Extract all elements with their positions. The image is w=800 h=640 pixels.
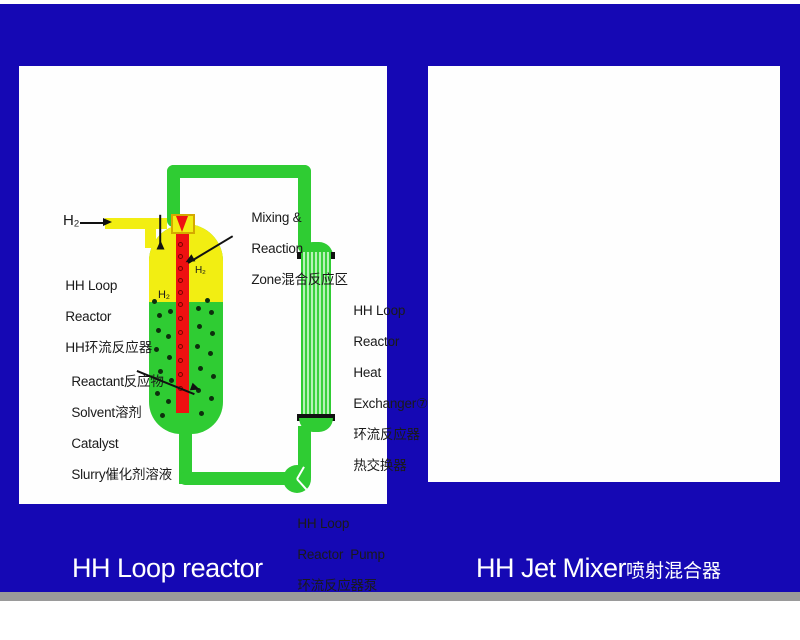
label-heat-exchanger: HH Loop Reactor Heat Exchanger⑦ 环流反应器 热交… xyxy=(332,287,428,489)
loop-pipe-bottom xyxy=(179,472,299,485)
bottom-gray-bar xyxy=(0,592,800,601)
label-h2-headspace-lower: H₂ xyxy=(158,288,170,304)
label-loop-reactor: HH Loop Reactor HH环流反应器 xyxy=(44,262,152,371)
reactor-nozzle-cone xyxy=(176,216,188,232)
h2-inlet-pipe xyxy=(105,218,167,229)
caption-right: HH Jet Mixer喷射混合器 xyxy=(448,519,721,592)
label-feed-stream: Reactant反应物 Solvent溶剂 Catalyst Slurry催化剂… xyxy=(50,358,172,498)
hx-line-cn-2: 热交换器 xyxy=(353,458,406,473)
bottom-white-area xyxy=(0,601,800,640)
hx-line-1: HH Loop xyxy=(353,303,405,318)
hx-line-4: Exchanger⑦ xyxy=(353,396,428,411)
feed-line-4: Slurry催化剂溶液 xyxy=(71,467,172,482)
loop-reactor-line-cn: HH环流反应器 xyxy=(65,340,152,355)
caption-right-cn: 喷射混合器 xyxy=(626,561,721,582)
h2-inlet-arrow-head xyxy=(103,218,112,226)
hx-line-2: Reactor xyxy=(353,334,399,349)
label-mixing-zone: Mixing & Reaction Zone混合反应区 xyxy=(230,194,348,303)
caption-left-line1: HH Loop reactor xyxy=(72,553,263,583)
circulation-arrow-head xyxy=(157,241,165,250)
label-h2-headspace-upper: H₂ xyxy=(195,263,206,279)
mixing-line-1: Mixing & xyxy=(251,210,301,225)
feed-line-2: Solvent溶剂 xyxy=(71,405,141,420)
feed-line-3: Catalyst xyxy=(71,436,118,451)
hx-line-3: Heat xyxy=(353,365,381,380)
hx-line-cn-1: 环流反应器 xyxy=(353,427,420,442)
left-diagram-panel: H₂ H₂ H₂ Mixing & Reaction Zone混合反应区 HH … xyxy=(19,66,387,504)
slide-canvas: H₂ H₂ H₂ Mixing & Reaction Zone混合反应区 HH … xyxy=(0,4,800,592)
right-diagram-panel: Nozzle喷嘴 Gas suction chamber气体吸入室 Free l… xyxy=(428,66,780,482)
loop-reactor-line-1: HH Loop xyxy=(65,278,117,293)
mixing-line-2: Reaction xyxy=(251,241,303,256)
label-h2-inlet: H₂ xyxy=(63,213,79,229)
mixing-line-3: Zone混合反应区 xyxy=(251,272,347,287)
pump-icon xyxy=(283,465,311,493)
h2-inlet-arrow-line xyxy=(80,222,104,224)
loop-reactor-line-2: Reactor xyxy=(65,309,111,324)
caption-left: HH Loop reactor (batch)环流反应器（批量） xyxy=(44,519,324,592)
loop-pipe-top xyxy=(167,165,311,178)
caption-right-en: HH Jet Mixer xyxy=(476,553,626,583)
h2-inlet-stem xyxy=(145,218,156,248)
